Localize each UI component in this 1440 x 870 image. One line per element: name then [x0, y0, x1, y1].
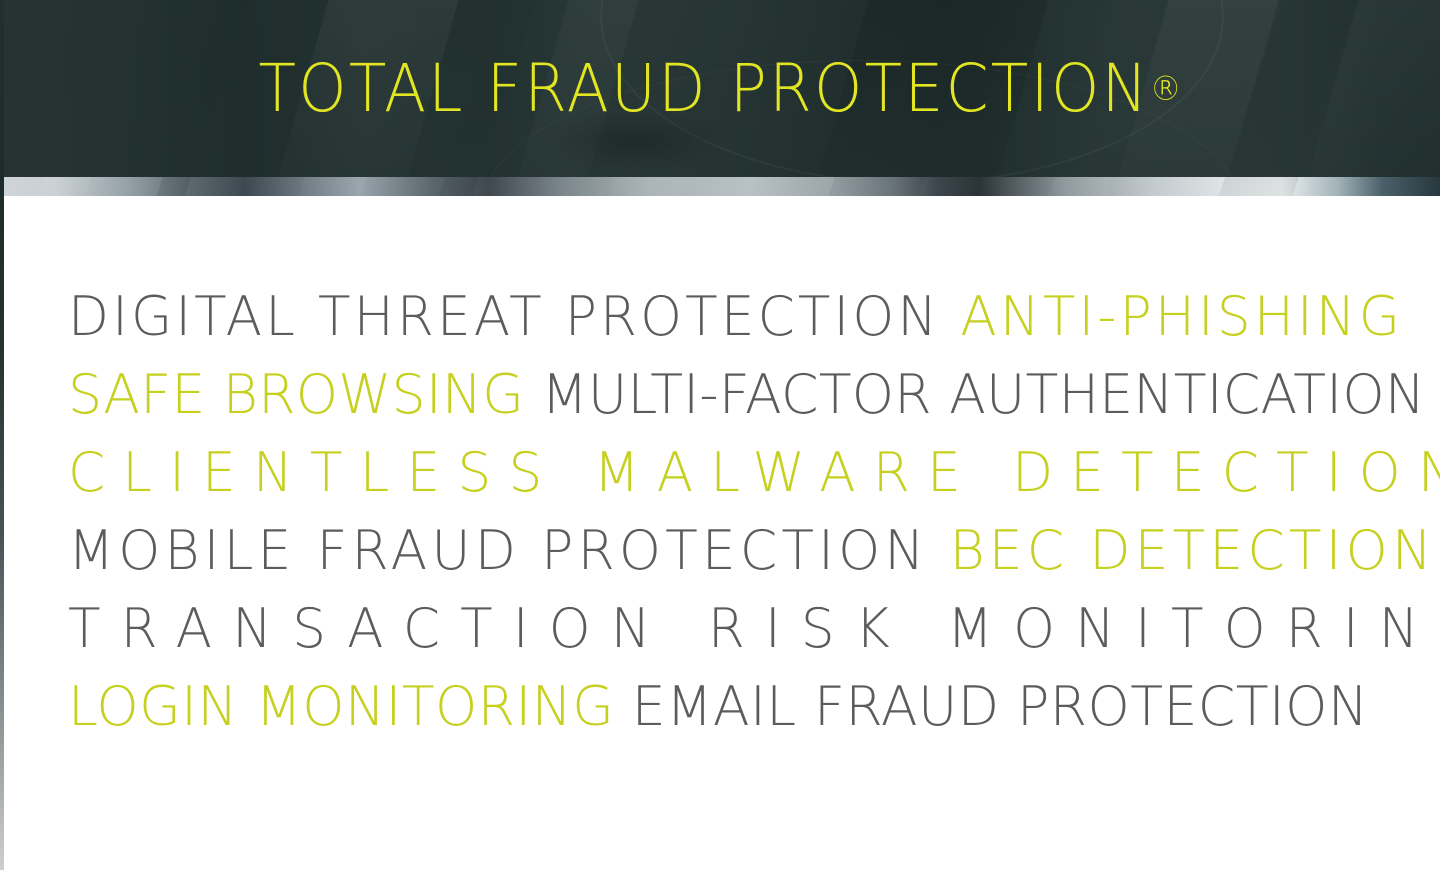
feature-segment: DIGITAL THREAT PROTECTION	[68, 285, 960, 348]
feature-line: DIGITAL THREAT PROTECTION ANTI-PHISHING	[68, 278, 1368, 356]
feature-segment: MOBILE FRAUD PROTECTION	[68, 519, 950, 582]
feature-segment: BEC DETECTION	[950, 519, 1436, 582]
feature-segment: LOGIN MONITORING	[68, 675, 614, 738]
body-area: DIGITAL THREAT PROTECTION ANTI-PHISHING …	[4, 196, 1440, 870]
feature-line: MOBILE FRAUD PROTECTION BEC DETECTION	[68, 512, 1375, 590]
feature-segment: EMAIL FRAUD PROTECTION	[614, 675, 1368, 738]
registered-trademark-icon: ®	[1150, 69, 1182, 109]
slide-canvas: TOTAL FRAUD PROTECTION® DIGITAL THREAT P…	[0, 0, 1440, 870]
left-edge-strip	[0, 0, 4, 870]
feature-line: TRANSACTION RISK MONITORING	[68, 590, 1368, 668]
feature-segment: MULTI-FACTOR AUTHENTICATION	[524, 363, 1425, 426]
page-title-text: TOTAL FRAUD PROTECTION	[258, 50, 1149, 127]
feature-segment: SAFE BROWSING	[68, 363, 524, 426]
feature-segment: TRANSACTION RISK MONITORING	[68, 597, 1440, 660]
page-title: TOTAL FRAUD PROTECTION®	[50, 0, 1389, 177]
feature-line: SAFE BROWSING MULTI-FACTOR AUTHENTICATIO…	[68, 356, 1381, 434]
feature-line: CLIENTLESS MALWARE DETECTION	[68, 434, 1368, 512]
feature-segment: CLIENTLESS MALWARE DETECTION	[68, 441, 1440, 504]
feature-segment: ANTI-PHISHING	[960, 285, 1403, 348]
feature-line: LOGIN MONITORING EMAIL FRAUD PROTECTION	[68, 668, 1381, 746]
feature-list: DIGITAL THREAT PROTECTION ANTI-PHISHING …	[68, 278, 1388, 746]
